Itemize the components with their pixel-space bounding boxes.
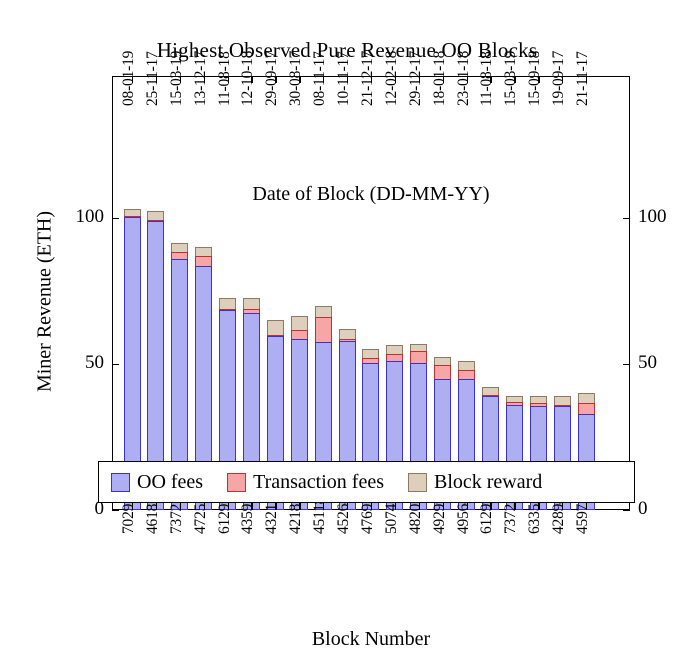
date-tick-label: 19-09-17 bbox=[550, 51, 568, 106]
date-tick-label: 11-08-18 bbox=[478, 51, 496, 106]
bar-segment-block-reward bbox=[219, 298, 236, 309]
bar-segment-block-reward bbox=[434, 357, 451, 366]
date-tick-label: 25-11-17 bbox=[144, 51, 162, 106]
bar-segment-transaction-fees bbox=[578, 403, 595, 413]
legend-entry: OO fees bbox=[111, 471, 227, 494]
bar-segment-block-reward bbox=[243, 298, 260, 308]
chart-legend: OO feesTransaction feesBlock reward bbox=[98, 461, 635, 503]
date-tick-label: 12-02-18 bbox=[383, 51, 401, 106]
bar-segment-block-reward bbox=[291, 316, 308, 331]
date-tick-label: 29-12-17 bbox=[407, 51, 425, 106]
date-tick-label: 10-11-17 bbox=[335, 51, 353, 106]
y-tick-right bbox=[623, 364, 630, 365]
bar-segment-transaction-fees bbox=[386, 354, 403, 361]
bar-segment-block-reward bbox=[147, 211, 164, 220]
legend-entry: Transaction fees bbox=[227, 471, 408, 494]
legend-swatch-br bbox=[408, 473, 427, 492]
date-tick-label: 23-01-18 bbox=[455, 51, 473, 106]
bar-segment-transaction-fees bbox=[171, 252, 188, 259]
bar-segment-transaction-fees bbox=[291, 330, 308, 339]
date-tick-label: 29-09-17 bbox=[263, 51, 281, 106]
y-tick-left bbox=[112, 364, 119, 365]
date-tick-label: 15-03-19 bbox=[502, 51, 520, 106]
bar-segment-block-reward bbox=[171, 243, 188, 252]
date-tick-label: 30-08-17 bbox=[287, 51, 305, 106]
legend-swatch-oo bbox=[111, 473, 130, 492]
y-tick-left bbox=[112, 218, 119, 219]
legend-entry: Block reward bbox=[408, 471, 566, 494]
date-tick-label: 08-01-19 bbox=[120, 51, 138, 106]
bar-segment-block-reward bbox=[267, 320, 284, 335]
bar-segment-block-reward bbox=[386, 345, 403, 354]
legend-swatch-tx bbox=[227, 473, 246, 492]
y-tick-label: 100 bbox=[638, 206, 694, 228]
date-tick-label: 15-03-19 bbox=[168, 51, 186, 106]
bar-segment-transaction-fees bbox=[410, 351, 427, 363]
chart-figure: Highest Observed Pure Revenue OO Blocks … bbox=[0, 0, 694, 664]
bar-segment-block-reward bbox=[554, 396, 571, 405]
date-tick-label: 12-10-18 bbox=[239, 51, 257, 106]
y-axis-title: Miner Revenue (ETH) bbox=[34, 152, 57, 452]
date-tick-label: 08-11-17 bbox=[311, 51, 329, 106]
date-tick-label: 21-12-17 bbox=[359, 51, 377, 106]
bars-layer bbox=[112, 76, 630, 510]
y-tick-right bbox=[623, 218, 630, 219]
y-tick-label: 50 bbox=[638, 352, 694, 374]
bar-segment-block-reward bbox=[410, 344, 427, 351]
bar-segment-block-reward bbox=[339, 329, 356, 339]
top-axis-title: Date of Block (DD-MM-YY) bbox=[112, 183, 630, 206]
date-tick-label: 21-11-17 bbox=[574, 51, 592, 106]
bar-segment-block-reward bbox=[482, 387, 499, 395]
y-tick-left bbox=[112, 510, 119, 511]
x-axis-title: Block Number bbox=[112, 628, 630, 651]
y-tick-label: 0 bbox=[638, 498, 694, 520]
date-tick-label: 18-01-18 bbox=[431, 51, 449, 106]
bar-segment-transaction-fees bbox=[315, 317, 332, 342]
bar-segment-block-reward bbox=[195, 247, 212, 256]
date-tick-label: 15-09-18 bbox=[526, 51, 544, 106]
bar-segment-block-reward bbox=[315, 306, 332, 318]
legend-label: OO fees bbox=[137, 471, 203, 494]
y-tick-label: 100 bbox=[60, 206, 104, 228]
y-tick-label: 50 bbox=[60, 352, 104, 374]
legend-label: Block reward bbox=[434, 471, 542, 494]
legend-label: Transaction fees bbox=[253, 471, 384, 494]
date-tick-label: 11-08-18 bbox=[216, 51, 234, 106]
bar-segment-block-reward bbox=[362, 349, 379, 358]
bar-segment-transaction-fees bbox=[458, 370, 475, 379]
bar-segment-block-reward bbox=[458, 361, 475, 370]
y-tick-right bbox=[623, 510, 630, 511]
bar-segment-transaction-fees bbox=[434, 365, 451, 378]
date-tick-label: 13-12-17 bbox=[192, 51, 210, 106]
bar-segment-transaction-fees bbox=[195, 256, 212, 266]
bar-segment-block-reward bbox=[530, 396, 547, 403]
bar-segment-block-reward bbox=[578, 393, 595, 403]
